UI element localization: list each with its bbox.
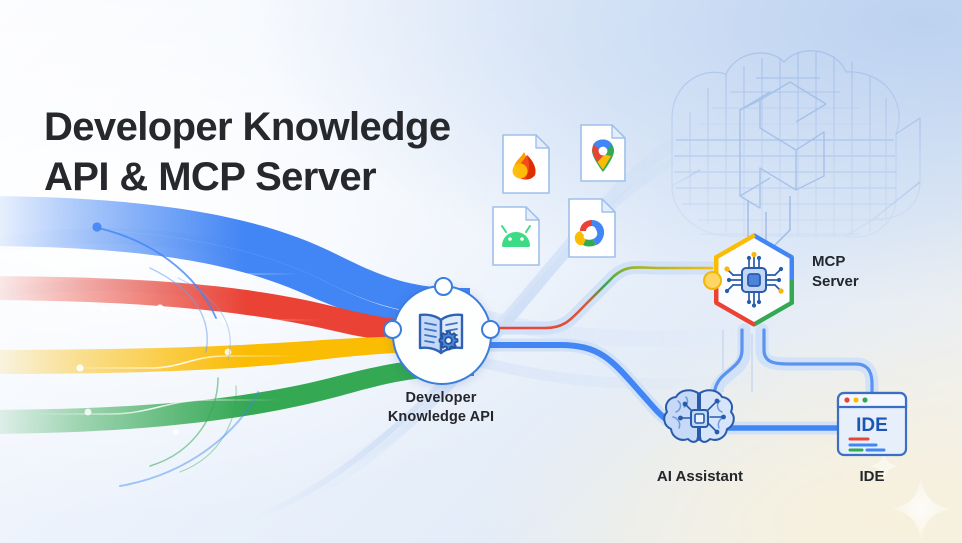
brain-circuit-icon — [660, 385, 738, 453]
google-cloud-doc-card[interactable] — [566, 196, 618, 265]
api-label-line-2: Knowledge API — [388, 409, 494, 425]
page-title: Developer Knowledge API & MCP Server — [44, 102, 450, 203]
ai-assistant-node[interactable] — [660, 385, 738, 453]
api-node-label: Developer Knowledge API — [348, 389, 534, 426]
title-line-1: Developer Knowledge — [44, 105, 450, 149]
window-dot-red — [844, 397, 849, 402]
illustration-canvas: Developer Knowledge API & MCP Server — [0, 0, 962, 543]
ide-window-icon: IDE — [836, 391, 908, 457]
window-dot-yellow — [853, 397, 858, 402]
google-maps-doc-card[interactable] — [578, 122, 628, 189]
api-connector-top — [434, 277, 453, 296]
ide-label: IDE — [812, 468, 932, 485]
mcp-label-line-2: Server — [812, 273, 859, 290]
mcp-server-label: MCP Server — [812, 252, 932, 292]
title-line-2: API & MCP Server — [44, 152, 450, 202]
firebase-doc-card[interactable] — [500, 132, 552, 201]
four-point-sparkle-icon — [891, 478, 951, 540]
book-gear-icon — [413, 307, 471, 363]
api-connector-left — [383, 320, 402, 339]
ide-window-text: IDE — [856, 415, 888, 436]
developer-knowledge-api-node[interactable] — [392, 285, 488, 381]
window-dot-green — [862, 397, 867, 402]
gear-icon — [440, 332, 458, 350]
mcp-label-line-1: MCP — [812, 253, 845, 270]
ai-assistant-label: AI Assistant — [620, 468, 780, 485]
api-label-line-1: Developer — [405, 390, 476, 406]
api-node-circle — [392, 285, 492, 385]
ide-node[interactable]: IDE — [836, 391, 908, 457]
api-connector-right — [481, 320, 500, 339]
mcp-connector-left — [703, 271, 722, 290]
android-doc-card[interactable] — [490, 204, 542, 273]
